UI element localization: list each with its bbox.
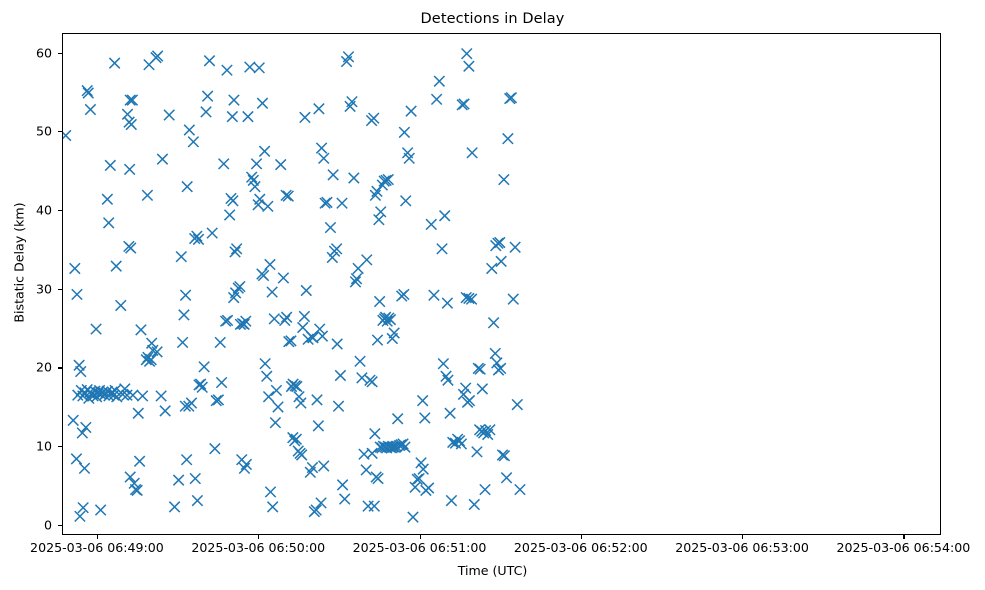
scatter-point	[372, 335, 382, 345]
scatter-point	[501, 473, 511, 483]
y-axis-tick-label: 60	[36, 45, 52, 60]
scatter-point	[363, 501, 373, 511]
scatter-point	[273, 402, 283, 412]
scatter-point	[111, 261, 121, 271]
scatter-point	[254, 63, 264, 73]
scatter-point	[325, 222, 335, 232]
scatter-point	[219, 159, 229, 169]
scatter-point	[63, 130, 71, 140]
scatter-point	[499, 174, 509, 184]
scatter-point	[78, 502, 88, 512]
scatter-point	[340, 494, 350, 504]
scatter-point	[278, 273, 288, 283]
scatter-point	[299, 311, 309, 321]
scatter-point	[434, 76, 444, 86]
scatter-point	[335, 370, 345, 380]
scatter-point	[239, 463, 249, 473]
scatter-point	[369, 501, 379, 511]
scatter-point	[230, 247, 240, 257]
scatter-point	[177, 337, 187, 347]
scatter-point	[281, 312, 291, 322]
scatter-point	[222, 65, 232, 75]
scatter-point	[180, 290, 190, 300]
scatter-point	[319, 461, 329, 471]
scatter-point	[469, 499, 479, 509]
scatter-point	[271, 385, 281, 395]
scatter-point	[510, 242, 520, 252]
scatter-point	[367, 448, 377, 458]
scatter-point	[417, 395, 427, 405]
scatter-point	[265, 259, 275, 269]
scatter-point	[81, 422, 91, 432]
scatter-point	[199, 362, 209, 372]
scatter-point	[251, 159, 261, 169]
scatter-point	[124, 164, 134, 174]
scatter-point	[70, 263, 80, 273]
scatter-point	[300, 112, 310, 122]
scatter-point	[292, 381, 302, 391]
scatter-point	[105, 160, 115, 170]
scatter-point	[127, 95, 137, 105]
scatter-point	[288, 432, 298, 442]
scatter-point	[156, 391, 166, 401]
scatter-point	[102, 194, 112, 204]
scatter-point	[349, 173, 359, 183]
x-axis-tick-label: 2025-03-06 06:53:00	[675, 540, 809, 555]
scatter-point	[506, 93, 516, 103]
scatter-point	[370, 429, 380, 439]
scatter-point	[456, 439, 466, 449]
scatter-point	[259, 146, 269, 156]
x-axis-tick-mark	[420, 535, 421, 539]
scatter-chart-figure: Detections in Delay Bistatic Delay (km) …	[0, 0, 985, 590]
scatter-point	[210, 443, 220, 453]
scatter-point	[426, 219, 436, 229]
scatter-point	[216, 377, 226, 387]
scatter-point	[477, 384, 487, 394]
scatter-point	[337, 480, 347, 490]
x-axis-tick-label: 2025-03-06 06:51:00	[353, 540, 487, 555]
scatter-point	[192, 495, 202, 505]
scatter-point	[190, 473, 200, 483]
y-axis-tick-label: 40	[36, 203, 52, 218]
scatter-point	[270, 418, 280, 428]
scatter-point	[197, 382, 207, 392]
scatter-point	[392, 414, 402, 424]
scatter-point	[169, 502, 179, 512]
scatter-point	[442, 298, 452, 308]
scatter-point	[133, 408, 143, 418]
scatter-point	[136, 325, 146, 335]
scatter-point	[91, 324, 101, 334]
scatter-point	[125, 472, 135, 482]
scatter-point	[316, 143, 326, 153]
scatter-point	[188, 137, 198, 147]
x-axis-tick-mark	[581, 535, 582, 539]
scatter-point	[247, 172, 257, 182]
scatter-point	[480, 484, 490, 494]
scatter-point	[337, 198, 347, 208]
scatter-point	[420, 413, 430, 423]
scatter-point	[229, 95, 239, 105]
scatter-point	[195, 379, 205, 389]
scatter-point	[201, 107, 211, 117]
y-axis-tick-label: 50	[36, 124, 52, 139]
scatter-point	[164, 110, 174, 120]
scatter-point	[125, 95, 135, 105]
scatter-point	[134, 456, 144, 466]
scatter-point	[370, 190, 380, 200]
scatter-point	[399, 127, 409, 137]
scatter-point	[179, 310, 189, 320]
scatter-point	[443, 375, 453, 385]
scatter-point	[515, 484, 525, 494]
x-axis-tick-label: 2025-03-06 06:50:00	[191, 540, 325, 555]
scatter-point	[462, 48, 472, 58]
scatter-point	[202, 91, 212, 101]
scatter-point	[257, 98, 267, 108]
scatter-point	[472, 447, 482, 457]
scatter-point	[72, 289, 82, 299]
scatter-point	[492, 358, 502, 368]
scatter-point	[68, 415, 78, 425]
scatter-point	[406, 106, 416, 116]
scatter-point	[355, 356, 365, 366]
scatter-point	[227, 111, 237, 121]
y-axis-tick-label: 10	[36, 439, 52, 454]
scatter-point	[314, 104, 324, 114]
scatter-point	[408, 512, 418, 522]
y-axis-tick-labels: 0102030405060	[0, 0, 52, 590]
x-axis-tick-label: 2025-03-06 06:49:00	[30, 540, 164, 555]
scatter-point	[75, 511, 85, 521]
scatter-point	[104, 218, 114, 228]
scatter-point	[496, 256, 506, 266]
scatter-point	[307, 462, 317, 472]
scatter-point	[176, 251, 186, 261]
scatter-point	[464, 61, 474, 71]
scatter-point	[137, 391, 147, 401]
scatter-point	[298, 322, 308, 332]
scatter-point	[269, 314, 279, 324]
x-axis-tick-mark	[258, 535, 259, 539]
scatter-point	[280, 315, 290, 325]
scatter-point	[357, 373, 367, 383]
scatter-point	[267, 502, 277, 512]
scatter-point	[116, 300, 126, 310]
scatter-point	[508, 294, 518, 304]
scatter-point	[431, 94, 441, 104]
scatter-point	[241, 316, 251, 326]
scatter-point	[71, 454, 81, 464]
scatter-point	[207, 228, 217, 238]
y-axis-tick-label: 20	[36, 360, 52, 375]
x-axis-tick-mark	[903, 535, 904, 539]
scatter-point	[488, 318, 498, 328]
scatter-point	[361, 465, 371, 475]
scatter-point	[333, 401, 343, 411]
scatter-point	[445, 408, 455, 418]
scatter-point	[157, 154, 167, 164]
scatter-point	[429, 290, 439, 300]
scatter-point	[243, 111, 253, 121]
scatter-point	[313, 421, 323, 431]
scatter-point	[319, 153, 329, 163]
scatter-point	[316, 498, 326, 508]
scatter-point	[245, 62, 255, 72]
scatter-point	[374, 214, 384, 224]
scatter-point	[401, 196, 411, 206]
scatter-point	[128, 390, 138, 400]
scatter-point	[260, 358, 270, 368]
scatter-point	[263, 201, 273, 211]
x-axis-label: Time (UTC)	[0, 563, 985, 578]
scatter-point	[181, 454, 191, 464]
plot-area	[62, 33, 941, 535]
scatter-point	[362, 255, 372, 265]
scatter-point	[95, 505, 105, 515]
scatter-point	[142, 190, 152, 200]
scatter-point	[487, 263, 497, 273]
scatter-point	[276, 159, 286, 169]
scatter-point	[328, 170, 338, 180]
scatter-point	[77, 428, 87, 438]
scatter-point	[503, 133, 513, 143]
chart-title: Detections in Delay	[0, 11, 985, 27]
scatter-point	[241, 459, 251, 469]
scatter-point	[182, 181, 192, 191]
scatter-point	[109, 58, 119, 68]
scatter-point	[332, 339, 342, 349]
scatter-point	[423, 483, 433, 493]
scatter-point	[173, 475, 183, 485]
scatter-point	[262, 371, 272, 381]
scatter-point	[215, 337, 225, 347]
scatter-point	[374, 296, 384, 306]
scatter-point	[79, 463, 89, 473]
scatter-point	[224, 210, 234, 220]
scatter-points-layer	[63, 34, 941, 535]
scatter-point	[446, 495, 456, 505]
scatter-point	[204, 56, 214, 66]
scatter-point	[490, 348, 500, 358]
scatter-point	[301, 285, 311, 295]
scatter-point	[376, 207, 386, 217]
scatter-point	[437, 244, 447, 254]
x-axis-tick-mark	[97, 535, 98, 539]
x-axis-tick-label: 2025-03-06 06:52:00	[514, 540, 648, 555]
scatter-point	[184, 125, 194, 135]
scatter-point	[312, 395, 322, 405]
y-axis-tick-label: 0	[44, 517, 52, 532]
scatter-point	[438, 358, 448, 368]
scatter-point	[440, 211, 450, 221]
x-axis-tick-mark	[742, 535, 743, 539]
scatter-point	[512, 399, 522, 409]
scatter-point	[231, 244, 241, 254]
scatter-point	[160, 406, 170, 416]
y-axis-tick-label: 30	[36, 281, 52, 296]
scatter-point	[263, 392, 273, 402]
x-axis-tick-label: 2025-03-06 06:54:00	[836, 540, 970, 555]
scatter-point	[267, 287, 277, 297]
scatter-point	[467, 148, 477, 158]
scatter-point	[85, 104, 95, 114]
scatter-point	[265, 487, 275, 497]
scatter-point	[441, 371, 451, 381]
